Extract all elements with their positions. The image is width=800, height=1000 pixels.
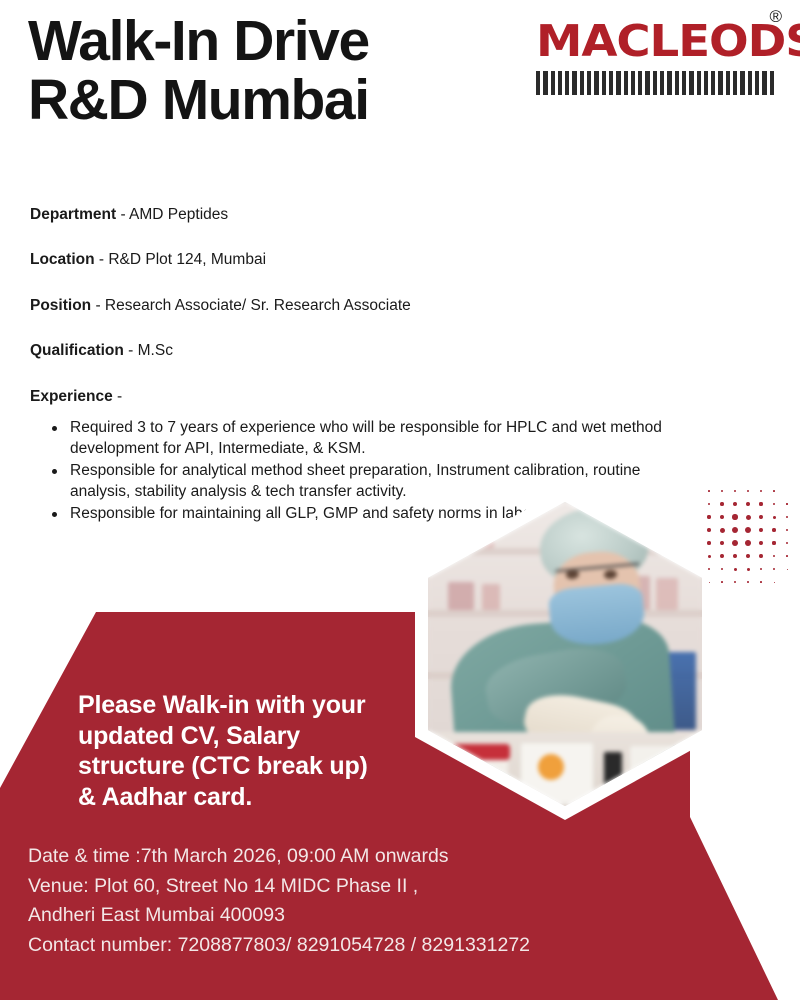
footer-line: Andheri East Mumbai 400093	[28, 901, 688, 931]
detail-field: Department - AMD Peptides	[30, 205, 670, 224]
barcode-bar	[580, 71, 584, 95]
halftone-dot	[733, 502, 737, 506]
cta-line: & Aadhar card.	[78, 782, 448, 813]
halftone-dot	[745, 540, 751, 546]
halftone-dot	[760, 581, 762, 583]
halftone-dot	[708, 490, 710, 492]
halftone-dot	[746, 515, 751, 520]
halftone-dot	[708, 555, 711, 558]
barcode-bar	[711, 71, 715, 95]
halftone-dot	[787, 569, 788, 570]
halftone-dot	[720, 554, 724, 558]
barcode-bar	[660, 71, 664, 95]
detail-value: - Research Associate/ Sr. Research Assoc…	[91, 297, 411, 314]
halftone-dot	[733, 554, 738, 559]
barcode-bar	[543, 71, 547, 95]
barcode-bar	[551, 71, 555, 95]
halftone-dot	[721, 490, 723, 492]
registered-trademark-icon: ®	[769, 7, 782, 27]
halftone-dot	[774, 582, 775, 583]
detail-field: Position - Research Associate/ Sr. Resea…	[30, 296, 670, 315]
page-title: Walk-In Drive R&D Mumbai	[28, 12, 369, 129]
barcode-bar	[704, 71, 708, 95]
detail-label: Location	[30, 251, 95, 268]
barcode-bar	[682, 71, 686, 95]
halftone-dot	[721, 581, 723, 583]
barcode-bar	[718, 71, 722, 95]
detail-label: Department	[30, 206, 116, 223]
halftone-dot	[759, 554, 763, 558]
list-item: Required 3 to 7 years of experience who …	[48, 418, 678, 459]
barcode-bar	[616, 71, 620, 95]
detail-field: Experience -	[30, 387, 670, 406]
halftone-dot	[773, 490, 775, 492]
detail-value: - AMD Peptides	[116, 206, 228, 223]
barcode-bar	[667, 71, 671, 95]
poster-header: Walk-In Drive R&D Mumbai MACLEODS ®	[0, 0, 800, 185]
footer-line: Venue: Plot 60, Street No 14 MIDC Phase …	[28, 872, 688, 902]
hexagon-photo	[415, 488, 715, 820]
halftone-dot	[707, 528, 711, 532]
halftone-dot	[707, 515, 710, 518]
halftone-dot	[734, 490, 737, 493]
halftone-dot	[759, 541, 764, 546]
halftone-dot	[786, 542, 788, 544]
halftone-dot	[786, 555, 788, 557]
halftone-dot	[720, 528, 725, 533]
detail-value: - M.Sc	[124, 342, 173, 359]
halftone-dot	[707, 541, 711, 545]
barcode-bar	[631, 71, 635, 95]
barcode-bar	[689, 71, 693, 95]
halftone-dot	[773, 516, 776, 519]
barcode-bar	[762, 71, 766, 95]
barcode-bar	[638, 71, 642, 95]
halftone-dot	[720, 541, 725, 546]
title-line-1: Walk-In Drive	[28, 12, 369, 71]
halftone-dot	[734, 581, 736, 583]
barcode-bar	[587, 71, 591, 95]
halftone-dot	[746, 554, 751, 559]
halftone-dots-decoration	[706, 488, 798, 594]
barcode-bar	[740, 71, 744, 95]
halftone-dot	[760, 568, 763, 571]
title-line-2: R&D Mumbai	[28, 71, 369, 130]
job-details-list: Department - AMD PeptidesLocation - R&D …	[30, 205, 670, 432]
cta-line: updated CV, Salary	[78, 721, 448, 752]
halftone-dot	[747, 581, 749, 583]
detail-field: Qualification - M.Sc	[30, 341, 670, 360]
halftone-dot	[772, 541, 775, 544]
barcode-bar	[770, 71, 774, 95]
cta-line: structure (CTC break up)	[78, 751, 448, 782]
barcode-bar	[726, 71, 730, 95]
detail-value: - R&D Plot 124, Mumbai	[95, 251, 266, 268]
barcode-bar	[572, 71, 576, 95]
barcode-bar	[733, 71, 737, 95]
halftone-dot	[759, 502, 762, 505]
barcode-bar	[748, 71, 752, 95]
detail-value: -	[113, 388, 122, 405]
halftone-dot	[773, 555, 776, 558]
halftone-dot	[786, 503, 787, 504]
detail-label: Experience	[30, 388, 113, 405]
barcode-bar	[565, 71, 569, 95]
halftone-dot	[709, 582, 710, 583]
halftone-dot	[786, 529, 788, 531]
barcode-bar	[624, 71, 628, 95]
macleods-logo: MACLEODS ®	[536, 20, 780, 95]
logo-barcode-icon	[536, 71, 774, 95]
halftone-dot	[759, 515, 763, 519]
halftone-dot	[759, 528, 764, 533]
detail-field: Location - R&D Plot 124, Mumbai	[30, 250, 670, 269]
halftone-dot	[786, 516, 788, 518]
halftone-dot	[732, 540, 738, 546]
walk-in-instructions: Please Walk-in with yourupdated CV, Sala…	[78, 690, 448, 812]
halftone-dot	[720, 515, 725, 520]
barcode-bar	[653, 71, 657, 95]
barcode-bar	[755, 71, 759, 95]
halftone-dot	[747, 568, 750, 571]
barcode-bar	[594, 71, 598, 95]
halftone-dot	[720, 502, 724, 506]
cta-line: Please Walk-in with your	[78, 690, 448, 721]
halftone-dot	[747, 490, 750, 493]
halftone-dot	[773, 568, 775, 570]
halftone-dot	[773, 503, 775, 505]
halftone-dot	[746, 502, 750, 506]
barcode-bar	[602, 71, 606, 95]
barcode-bar	[675, 71, 679, 95]
logo-wordmark: MACLEODS	[536, 20, 795, 64]
halftone-dot	[734, 568, 737, 571]
halftone-dot	[745, 527, 751, 533]
footer-line: Date & time :7th March 2026, 09:00 AM on…	[28, 842, 688, 872]
recruitment-poster: Walk-In Drive R&D Mumbai MACLEODS ® Depa…	[0, 0, 800, 1000]
halftone-dot	[732, 527, 738, 533]
barcode-bar	[645, 71, 649, 95]
venue-contact-details: Date & time :7th March 2026, 09:00 AM on…	[28, 842, 688, 961]
barcode-bar	[697, 71, 701, 95]
barcode-bar	[536, 71, 540, 95]
halftone-dot	[708, 503, 711, 506]
halftone-dot	[708, 568, 710, 570]
detail-label: Qualification	[30, 342, 124, 359]
footer-line: Contact number: 7208877803/ 8291054728 /…	[28, 931, 688, 961]
halftone-dot	[772, 528, 776, 532]
halftone-dot	[732, 514, 737, 519]
halftone-dot	[721, 568, 724, 571]
barcode-bar	[558, 71, 562, 95]
detail-label: Position	[30, 297, 91, 314]
barcode-bar	[609, 71, 613, 95]
halftone-dot	[760, 490, 762, 492]
